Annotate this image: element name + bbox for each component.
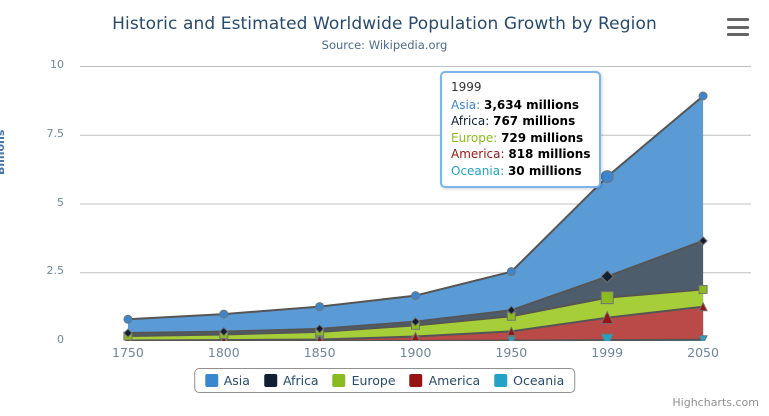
tooltip-series-value: 818 millions [508, 147, 590, 161]
y-axis-tick-label: 5 [22, 196, 64, 209]
tooltip-series-value: 729 millions [501, 131, 583, 145]
point-asia-1900[interactable] [412, 292, 420, 300]
legend-label: Africa [283, 373, 319, 388]
x-axis-tick-label: 1999 [577, 345, 637, 360]
point-asia-1999[interactable] [601, 171, 613, 183]
legend-swatch-icon [205, 374, 218, 387]
point-europe-2050[interactable] [699, 285, 707, 293]
x-axis-tick-label: 1750 [98, 345, 158, 360]
tooltip-series-name: Asia: [451, 98, 484, 112]
tooltip-series-name: Africa: [451, 114, 493, 128]
tooltip-row-europe: Europe: 729 millions [451, 130, 590, 147]
tooltip-series-name: Europe: [451, 131, 501, 145]
legend-item-asia[interactable]: Asia [205, 373, 250, 388]
x-axis-tick-label: 2050 [673, 345, 733, 360]
highcharts-chart: Historic and Estimated Worldwide Populat… [0, 0, 769, 416]
legend-swatch-icon [264, 374, 277, 387]
hamburger-menu-icon[interactable] [727, 17, 751, 37]
tooltip-series-name: Oceania: [451, 164, 508, 178]
point-asia-1800[interactable] [220, 310, 228, 318]
tooltip-row-america: America: 818 millions [451, 146, 590, 163]
chart-subtitle: Source: Wikipedia.org [0, 38, 769, 52]
x-axis-tick-label: 1900 [386, 345, 446, 360]
legend-label: Asia [224, 373, 250, 388]
chart-legend[interactable]: AsiaAfricaEuropeAmericaOceania [194, 368, 576, 393]
chart-title: Historic and Estimated Worldwide Populat… [0, 14, 769, 34]
tooltip-series-name: America: [451, 147, 508, 161]
point-asia-1750[interactable] [124, 315, 132, 323]
legend-swatch-icon [333, 374, 346, 387]
point-asia-1950[interactable] [507, 268, 515, 276]
legend-item-oceania[interactable]: Oceania [494, 373, 564, 388]
y-axis-title: Billions [0, 130, 7, 175]
legend-swatch-icon [410, 374, 423, 387]
point-asia-1850[interactable] [316, 303, 324, 311]
credits-link[interactable]: Highcharts.com [672, 396, 759, 409]
legend-label: America [429, 373, 481, 388]
y-axis-tick-label: 10 [22, 58, 64, 71]
y-axis-tick-label: 0 [22, 333, 64, 346]
tooltip-header: 1999 [451, 79, 590, 97]
y-axis-tick-label: 2.5 [22, 264, 64, 277]
data-tooltip: 1999 Asia: 3,634 millionsAfrica: 767 mil… [440, 71, 601, 188]
x-axis-tick-label: 1800 [194, 345, 254, 360]
legend-label: Oceania [513, 373, 564, 388]
hamburger-bar-1 [727, 18, 749, 21]
legend-swatch-icon [494, 374, 507, 387]
x-axis-tick-label: 1950 [481, 345, 541, 360]
plot-area [80, 66, 751, 341]
tooltip-row-africa: Africa: 767 millions [451, 113, 590, 130]
chart-canvas [80, 66, 751, 341]
legend-label: Europe [352, 373, 396, 388]
legend-item-europe[interactable]: Europe [333, 373, 396, 388]
tooltip-series-value: 3,634 millions [484, 98, 579, 112]
hamburger-bar-3 [727, 33, 749, 36]
x-axis-tick-label: 1850 [290, 345, 350, 360]
tooltip-row-asia: Asia: 3,634 millions [451, 97, 590, 114]
hamburger-bar-2 [727, 26, 749, 29]
point-asia-2050[interactable] [699, 92, 707, 100]
y-axis-tick-label: 7.5 [22, 127, 64, 140]
legend-item-america[interactable]: America [410, 373, 481, 388]
point-europe-1999[interactable] [601, 292, 613, 304]
legend-item-africa[interactable]: Africa [264, 373, 319, 388]
tooltip-rows: Asia: 3,634 millionsAfrica: 767 millions… [451, 97, 590, 180]
tooltip-row-oceania: Oceania: 30 millions [451, 163, 590, 180]
tooltip-series-value: 767 millions [493, 114, 575, 128]
tooltip-series-value: 30 millions [508, 164, 582, 178]
